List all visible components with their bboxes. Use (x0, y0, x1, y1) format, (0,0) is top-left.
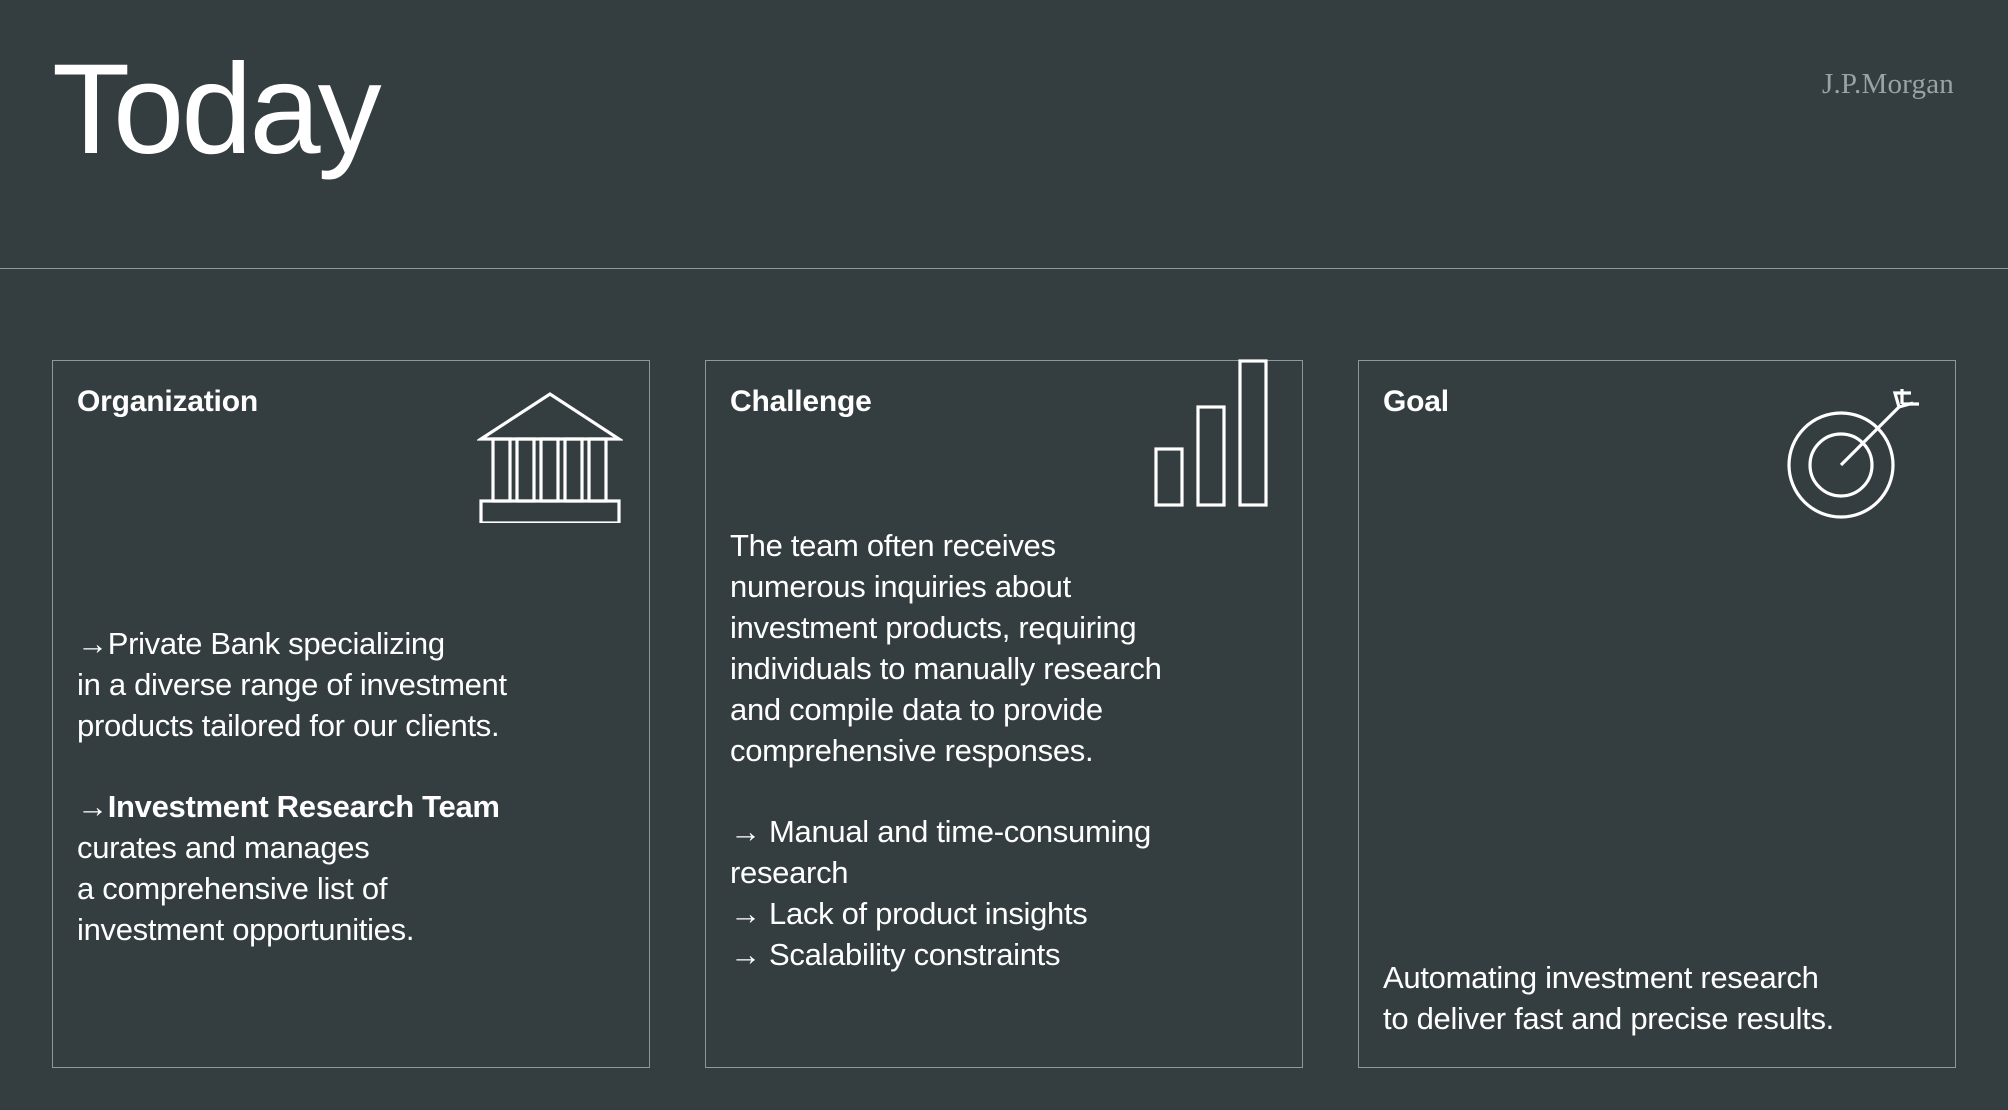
page-title: Today (52, 46, 379, 174)
card-body-organization: →Private Bank specializing in a diverse … (77, 427, 625, 1043)
organization-paragraph-2: →Investment Research Team curates and ma… (77, 786, 625, 950)
header-divider (0, 268, 2008, 269)
slide-root: Today J.P.Morgan Organization (0, 0, 2008, 1110)
jpmorgan-logo: J.P.Morgan (1822, 68, 1954, 101)
card-header-challenge: Challenge (730, 387, 1278, 427)
organization-paragraph-1: →Private Bank specializing in a diverse … (77, 623, 625, 746)
slide-header: Today J.P.Morgan (0, 0, 2008, 268)
organization-paragraph-2-bold: →Investment Research Team (77, 789, 500, 824)
card-row: Organization (52, 360, 1956, 1068)
card-goal: Goal (1358, 360, 1956, 1068)
challenge-paragraph-1: The team often receives numerous inquiri… (730, 525, 1278, 771)
organization-paragraph-2-rest: curates and manages a comprehensive list… (77, 830, 414, 947)
challenge-bullet-list: → Manual and time-consuming research → L… (730, 811, 1278, 975)
card-body-challenge: The team often receives numerous inquiri… (730, 427, 1278, 1043)
card-organization: Organization (52, 360, 650, 1068)
card-header-organization: Organization (77, 387, 625, 427)
card-body-goal: Automating investment research to delive… (1383, 427, 1931, 1043)
card-header-goal: Goal (1383, 387, 1931, 427)
goal-paragraph-1: Automating investment research to delive… (1383, 957, 1931, 1039)
card-challenge: Challenge The team often receives numero… (705, 360, 1303, 1068)
